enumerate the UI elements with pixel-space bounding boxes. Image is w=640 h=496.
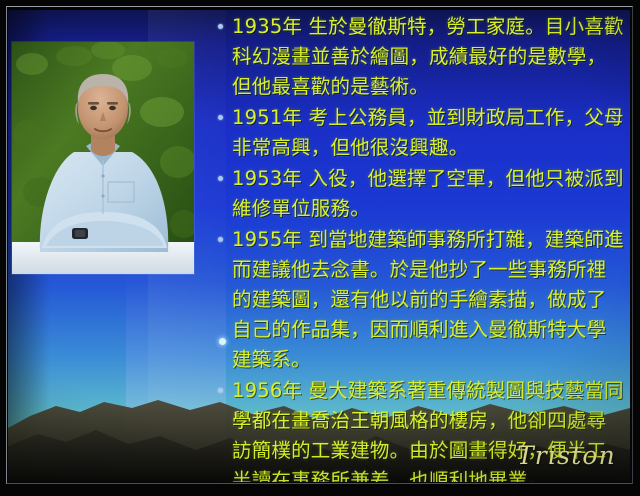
list-item-text: 1951年 考上公務員，並到財政局工作，父母非常高興，但他很沒興趣。 bbox=[232, 103, 624, 163]
portrait-photo bbox=[12, 42, 194, 274]
list-item: 1955年 到當地建築師事務所打雜，建築師進而建議他去念書。於是他抄了一些事務所… bbox=[214, 225, 624, 375]
bullet-dot-icon bbox=[214, 225, 232, 242]
watermark-text: Triston bbox=[517, 441, 616, 470]
presentation-slide: 1935年 生於曼徹斯特，勞工家庭。目小喜歡科幻漫畫並善於繪圖，成績最好的是數學… bbox=[8, 10, 630, 482]
projected-screen-frame: 1935年 生於曼徹斯特，勞工家庭。目小喜歡科幻漫畫並善於繪圖，成績最好的是數學… bbox=[0, 0, 640, 496]
list-item: 1935年 生於曼徹斯特，勞工家庭。目小喜歡科幻漫畫並善於繪圖，成績最好的是數學… bbox=[214, 12, 624, 102]
list-item-text: 1955年 到當地建築師事務所打雜，建築師進而建議他去念書。於是他抄了一些事務所… bbox=[232, 225, 624, 375]
list-item: 1951年 考上公務員，並到財政局工作，父母非常高興，但他很沒興趣。 bbox=[214, 103, 624, 163]
bullet-dot-icon bbox=[214, 103, 232, 120]
bullet-list: 1935年 生於曼徹斯特，勞工家庭。目小喜歡科幻漫畫並善於繪圖，成績最好的是數學… bbox=[214, 12, 624, 482]
list-item: 1953年 入役，他選擇了空軍，但他只被派到維修單位服務。 bbox=[214, 164, 624, 224]
bullet-dot-icon bbox=[214, 12, 232, 29]
bullet-dot-icon bbox=[214, 164, 232, 181]
list-item-text: 1935年 生於曼徹斯特，勞工家庭。目小喜歡科幻漫畫並善於繪圖，成績最好的是數學… bbox=[232, 12, 624, 102]
bullet-dot-icon bbox=[214, 376, 232, 393]
list-item-text: 1953年 入役，他選擇了空軍，但他只被派到維修單位服務。 bbox=[232, 164, 624, 224]
